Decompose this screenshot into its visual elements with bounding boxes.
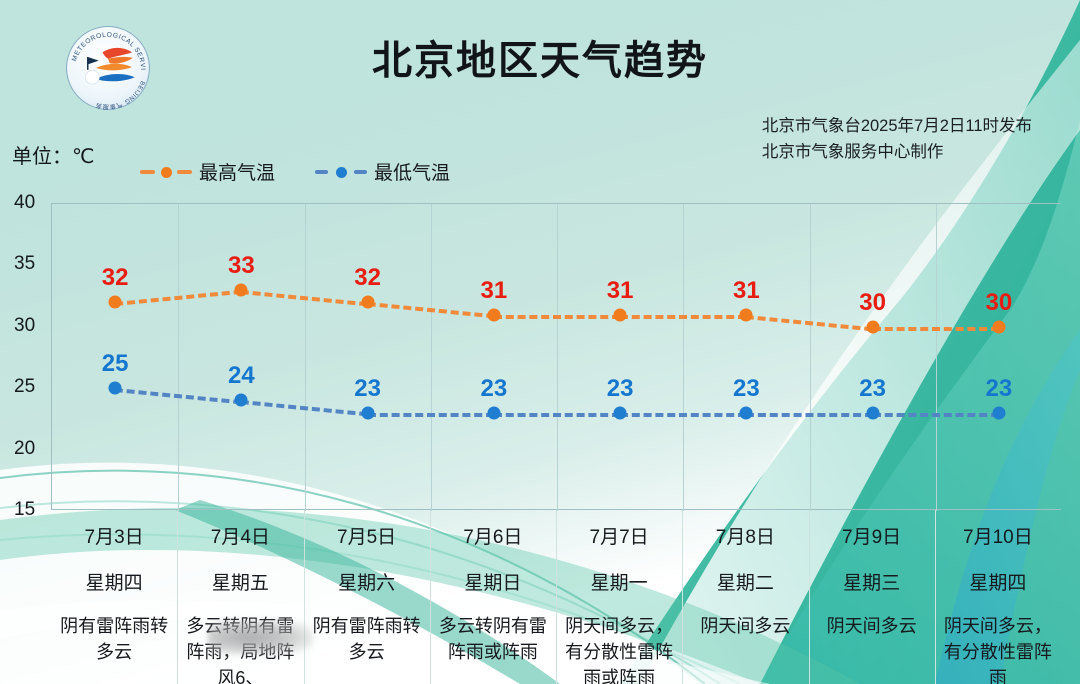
chart-legend: 最高气温 最低气温 [140,158,450,185]
series-line-segment [494,315,620,319]
column-divider [430,510,431,684]
forecast-column: 7月8日星期二阴天间多云 [682,510,808,684]
forecast-weekday: 星期三 [809,568,935,595]
data-point [235,394,248,407]
forecast-weekday: 星期六 [304,568,430,595]
legend-label-max: 最高气温 [199,158,275,185]
series-line-segment [368,413,494,417]
data-point [235,283,248,296]
forecast-description: 阴天间多云 [682,613,808,639]
data-point-label: 24 [228,362,255,390]
series-line-segment [494,413,620,417]
data-point-label: 23 [607,375,634,403]
data-point-label: 31 [481,277,508,305]
forecast-description: 多云转阴有雷阵雨，局地阵风6、 [177,613,303,684]
forecast-date: 7月3日 [51,522,177,549]
grid-line-vertical [683,204,684,511]
y-axis-tick-label: 25 [14,376,35,398]
data-point [740,406,753,419]
forecast-description: 阴天间多云 [809,613,935,639]
forecast-date: 7月5日 [304,522,430,549]
y-axis-tick-label: 35 [14,253,35,275]
grid-line-vertical [431,204,432,511]
forecast-column: 7月4日星期五多云转阴有雷阵雨，局地阵风6、 [177,510,303,684]
forecast-date: 7月7日 [556,522,682,549]
forecast-weekday: 星期四 [51,568,177,595]
forecast-column: 7月7日星期一阴天间多云，有分散性雷阵雨或阵雨 [556,510,682,684]
forecast-date: 7月10日 [935,522,1061,549]
data-point-label: 23 [481,375,508,403]
data-point-label: 23 [733,375,760,403]
column-divider [682,510,683,684]
series-line-segment [620,413,746,417]
data-point-label: 25 [102,350,129,378]
data-point-label: 23 [986,375,1013,403]
series-line-segment [746,413,872,417]
forecast-description: 多云转阴有雷阵雨或阵雨 [430,613,556,665]
forecast-weekday: 星期日 [430,568,556,595]
legend-label-min: 最低气温 [374,158,450,185]
publisher-info: 北京市气象台2025年7月2日11时发布 北京市气象服务中心制作 [762,113,1032,165]
column-divider [177,510,178,684]
series-line-segment [620,315,746,319]
grid-line-vertical [557,204,558,511]
data-point-label: 32 [102,264,129,292]
legend-swatch-max-icon [140,164,192,180]
weather-trend-chart: METEOROLOGICAL SERVICE BEIJING 气象服务 北京地区… [0,0,1080,684]
data-point-label: 23 [859,375,886,403]
forecast-date: 7月9日 [809,522,935,549]
forecast-description: 阴有雷阵雨转多云 [304,613,430,665]
data-point-label: 23 [354,375,381,403]
data-point-label: 30 [986,289,1013,317]
y-axis-tick-label: 30 [14,315,35,337]
data-point-label: 30 [859,289,886,317]
forecast-column: 7月9日星期三阴天间多云 [809,510,935,684]
data-point [361,296,374,309]
unit-label: 单位：℃ [12,140,94,169]
plot-area: 32333231313130302524232323232323 [51,203,1061,510]
data-point [361,406,374,419]
forecast-date: 7月4日 [177,522,303,549]
forecast-columns: 7月3日星期四阴有雷阵雨转多云7月4日星期五多云转阴有雷阵雨，局地阵风6、7月5… [51,510,1061,684]
data-point [487,406,500,419]
data-point [109,382,122,395]
y-axis-tick-label: 15 [14,499,35,521]
grid-line-vertical [305,204,306,511]
data-point-label: 31 [607,277,634,305]
grid-line-vertical [810,204,811,511]
column-divider [809,510,810,684]
data-point [866,320,879,333]
forecast-description: 阴天间多云，有分散性雷阵雨或阵雨 [556,613,682,684]
y-axis-tick-label: 20 [14,438,35,460]
column-divider [556,510,557,684]
forecast-weekday: 星期五 [177,568,303,595]
series-line-segment [873,327,999,331]
page-title: 北京地区天气趋势 [0,28,1080,86]
data-point-label: 31 [733,277,760,305]
forecast-description: 阴有雷阵雨转多云 [51,613,177,665]
legend-item-max: 最高气温 [140,158,275,185]
forecast-weekday: 星期二 [682,568,808,595]
column-divider [935,510,936,684]
column-divider [304,510,305,684]
series-line-segment [873,413,999,417]
forecast-column: 7月5日星期六阴有雷阵雨转多云 [304,510,430,684]
grid-line-vertical [178,204,179,511]
forecast-column: 7月3日星期四阴有雷阵雨转多云 [51,510,177,684]
legend-item-min: 最低气温 [315,158,450,185]
forecast-column: 7月6日星期日多云转阴有雷阵雨或阵雨 [430,510,556,684]
data-point [992,406,1005,419]
data-point [614,406,627,419]
forecast-description: 阴天间多云，有分散性雷阵雨 [935,613,1061,684]
forecast-date: 7月8日 [682,522,808,549]
data-point [487,308,500,321]
grid-line-vertical [936,204,937,511]
data-point [992,320,1005,333]
data-point-label: 33 [228,252,255,280]
forecast-weekday: 星期四 [935,568,1061,595]
publisher-line-1: 北京市气象台2025年7月2日11时发布 [762,113,1032,139]
forecast-weekday: 星期一 [556,568,682,595]
data-point [109,296,122,309]
y-axis-tick-label: 40 [14,192,35,214]
forecast-column: 7月10日星期四阴天间多云，有分散性雷阵雨 [935,510,1061,684]
data-point [614,308,627,321]
legend-swatch-min-icon [315,164,367,180]
publisher-line-2: 北京市气象服务中心制作 [762,139,1032,165]
forecast-date: 7月6日 [430,522,556,549]
data-point-label: 32 [354,264,381,292]
data-point [740,308,753,321]
data-point [866,406,879,419]
